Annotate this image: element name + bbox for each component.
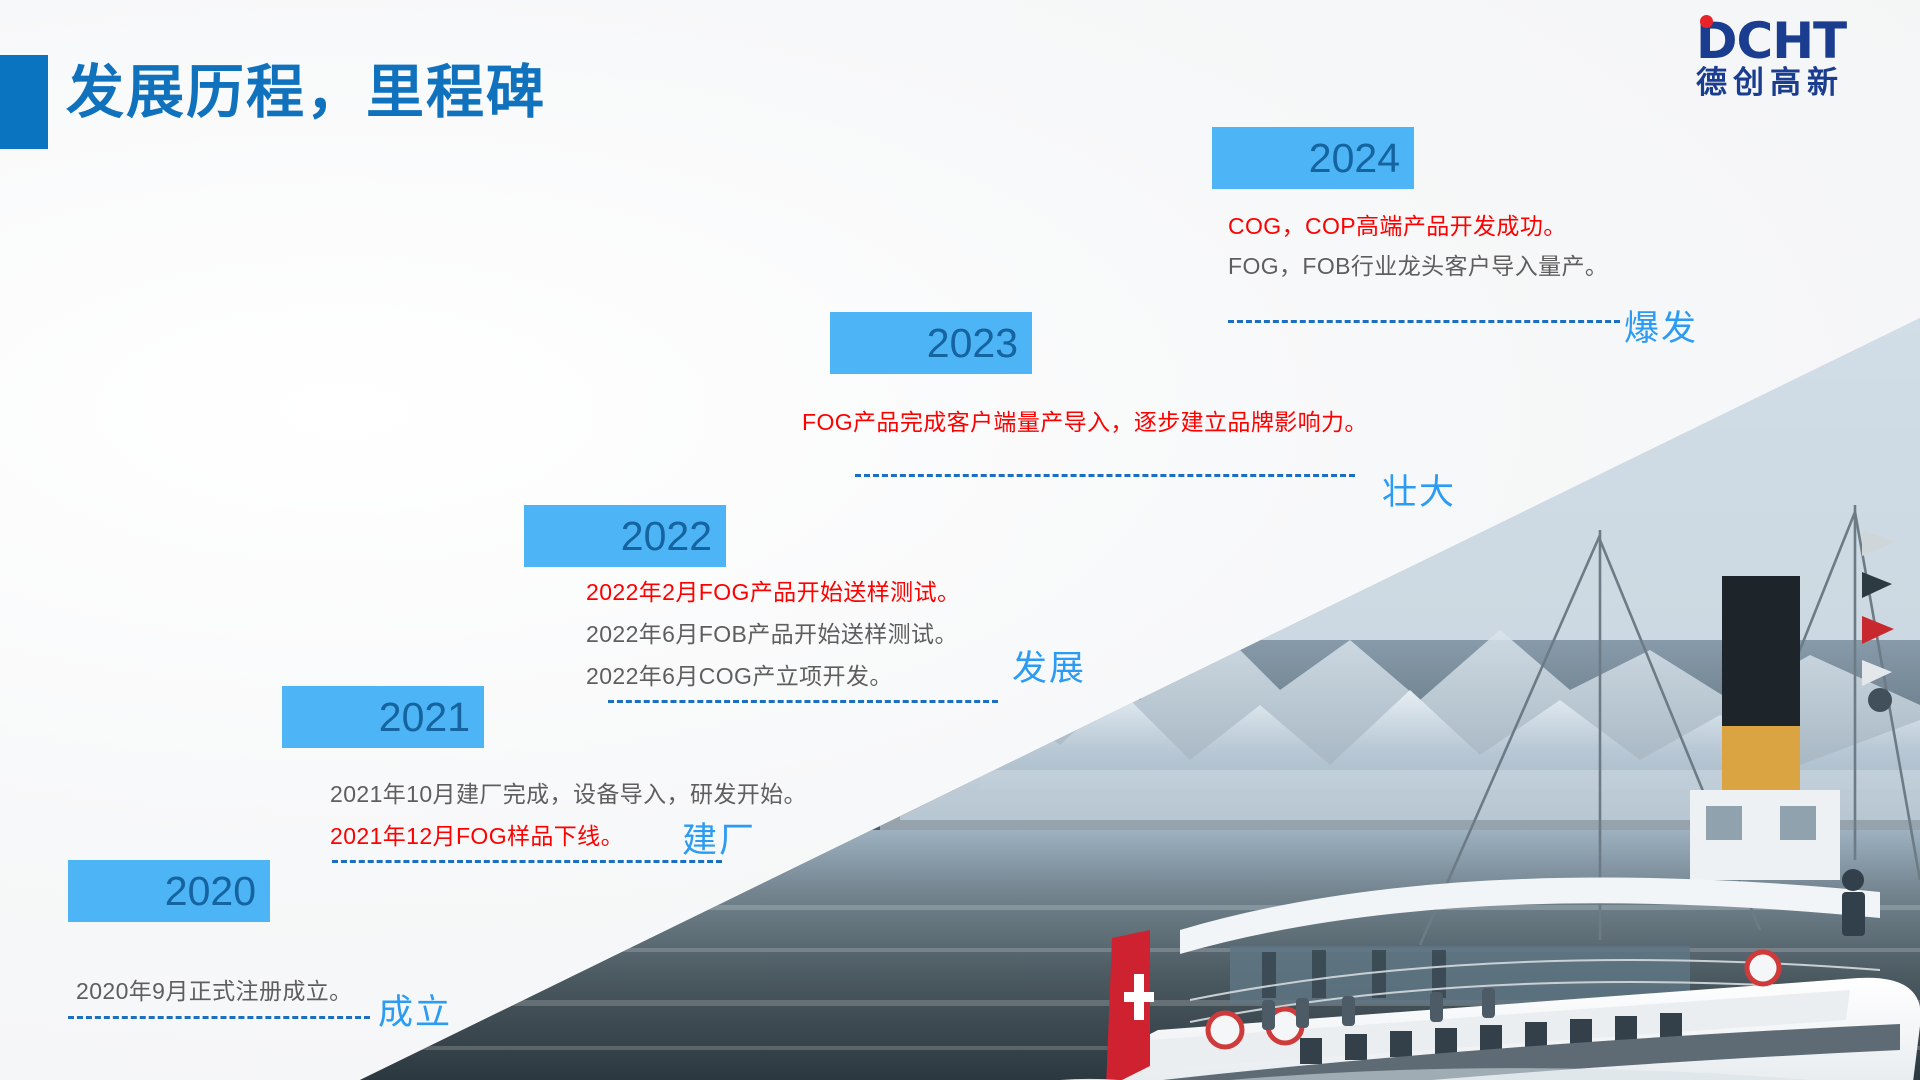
milestone-text: 2021年12月FOG样品下线。 <box>330 817 624 851</box>
company-logo: DCHT 德创高新 <box>1696 6 1896 110</box>
milestone-text: 2021年10月建厂完成，设备导入，研发开始。 <box>330 775 807 809</box>
timeline-dashed-rule <box>68 1016 370 1019</box>
milestone-text: 2022年6月COG产立项开发。 <box>586 657 893 691</box>
logo-chinese-name: 德创高新 <box>1696 67 1844 98</box>
mountain-range-graphic <box>0 0 1920 1080</box>
page-title: 发展历程，里程碑 <box>66 45 546 129</box>
year-badge-2021[interactable]: 2021 <box>282 686 484 748</box>
timeline-dashed-rule <box>855 474 1355 477</box>
stage-label-2021: 建厂 <box>682 812 756 863</box>
milestone-text: 2020年9月正式注册成立。 <box>76 972 353 1006</box>
logo-red-dot-icon <box>1700 15 1713 28</box>
milestone-text: COG，COP高端产品开发成功。 <box>1228 207 1567 241</box>
title-accent-bar <box>0 55 48 149</box>
milestone-text: FOG产品完成客户端量产导入，逐步建立品牌影响力。 <box>802 403 1368 437</box>
stage-label-2024: 爆发 <box>1624 300 1698 351</box>
year-badge-2020[interactable]: 2020 <box>68 860 270 922</box>
logo-wordmark-text: DCHT <box>1696 18 1846 66</box>
stage-label-2023: 壮大 <box>1382 464 1456 515</box>
milestone-text: 2022年2月FOG产品开始送样测试。 <box>586 573 960 607</box>
timeline-dashed-rule <box>608 700 998 703</box>
timeline-dashed-rule <box>332 860 722 863</box>
logo-wordmark: DCHT <box>1696 18 1846 66</box>
year-badge-2023[interactable]: 2023 <box>830 312 1032 374</box>
background-photo <box>0 0 1920 1080</box>
year-badge-2022[interactable]: 2022 <box>524 505 726 567</box>
milestone-text: 2022年6月FOB产品开始送样测试。 <box>586 615 958 649</box>
timeline-dashed-rule <box>1228 320 1620 323</box>
stage-label-2020: 成立 <box>378 984 452 1035</box>
slide-canvas: 发展历程，里程碑 DCHT 德创高新 2024 COG，COP高端产品开发成功。… <box>0 0 1920 1080</box>
milestone-text: FOG，FOB行业龙头客户导入量产。 <box>1228 247 1608 281</box>
stage-label-2022: 发展 <box>1012 640 1086 691</box>
year-badge-2024[interactable]: 2024 <box>1212 127 1414 189</box>
